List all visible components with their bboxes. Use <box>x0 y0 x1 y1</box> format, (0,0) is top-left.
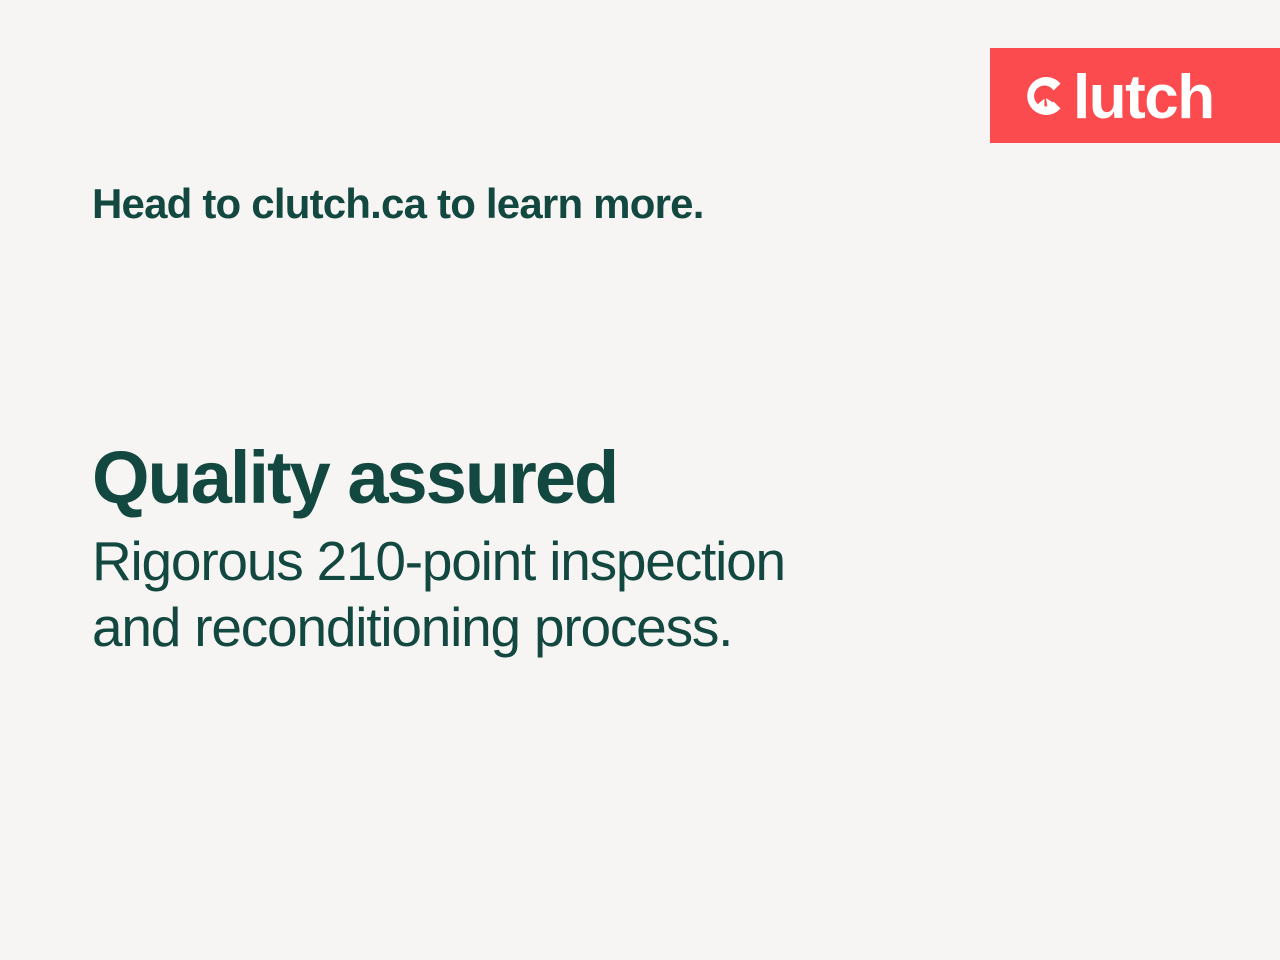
clutch-c-wheel-icon <box>1020 70 1072 122</box>
clutch-logo-mark: lutch <box>1020 48 1214 143</box>
message-body-line-2: and reconditioning process. <box>92 594 992 660</box>
message-body-line-1: Rigorous 210-point inspection <box>92 528 992 594</box>
slide-canvas: lutch Head to clutch.ca to learn more. Q… <box>0 0 1280 960</box>
message-body: Rigorous 210-point inspection and recond… <box>92 528 992 660</box>
message-headline: Quality assured <box>92 436 992 520</box>
message-group: Quality assured Rigorous 210-point inspe… <box>92 436 992 660</box>
cta-headline: Head to clutch.ca to learn more. <box>92 180 704 228</box>
clutch-wordmark: lutch <box>1073 72 1214 124</box>
clutch-logo-block[interactable]: lutch <box>990 48 1280 143</box>
